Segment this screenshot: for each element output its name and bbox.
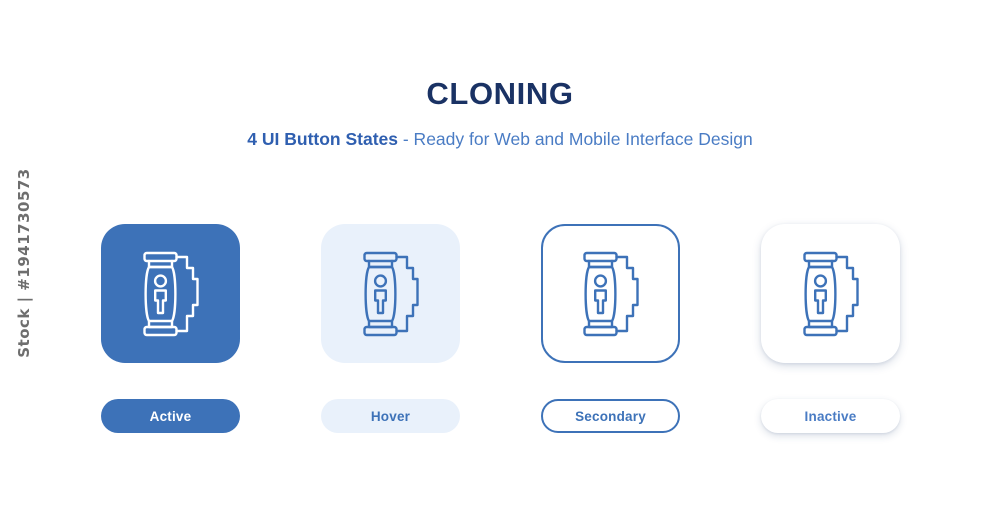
icon-tile-secondary[interactable]: [541, 224, 680, 363]
button-states-row: Active Hover: [0, 224, 1000, 433]
icon-tile-active[interactable]: [101, 224, 240, 363]
cloning-pod-icon: [355, 250, 427, 338]
state-button-label: Hover: [371, 409, 410, 424]
page-subtitle: 4 UI Button States - Ready for Web and M…: [0, 131, 1000, 149]
header: CLONING 4 UI Button States - Ready for W…: [0, 0, 1000, 149]
state-button-active[interactable]: Active: [101, 399, 240, 433]
state-column-active: Active: [101, 224, 240, 433]
cloning-pod-icon: [795, 250, 867, 338]
page-subtitle-rest: - Ready for Web and Mobile Interface Des…: [398, 129, 753, 149]
state-button-inactive[interactable]: Inactive: [761, 399, 900, 433]
page-subtitle-strong: 4 UI Button States: [247, 129, 398, 149]
cloning-pod-icon: [135, 250, 207, 338]
state-column-inactive: Inactive: [761, 224, 900, 433]
state-button-secondary[interactable]: Secondary: [541, 399, 680, 433]
state-column-hover: Hover: [321, 224, 460, 433]
cloning-pod-icon: [575, 250, 647, 338]
state-button-label: Active: [150, 409, 192, 424]
page-title: CLONING: [0, 78, 1000, 109]
state-column-secondary: Secondary: [541, 224, 680, 433]
state-button-hover[interactable]: Hover: [321, 399, 460, 433]
icon-tile-inactive[interactable]: [761, 224, 900, 363]
state-button-label: Secondary: [575, 409, 646, 424]
icon-tile-hover[interactable]: [321, 224, 460, 363]
state-button-label: Inactive: [805, 409, 857, 424]
